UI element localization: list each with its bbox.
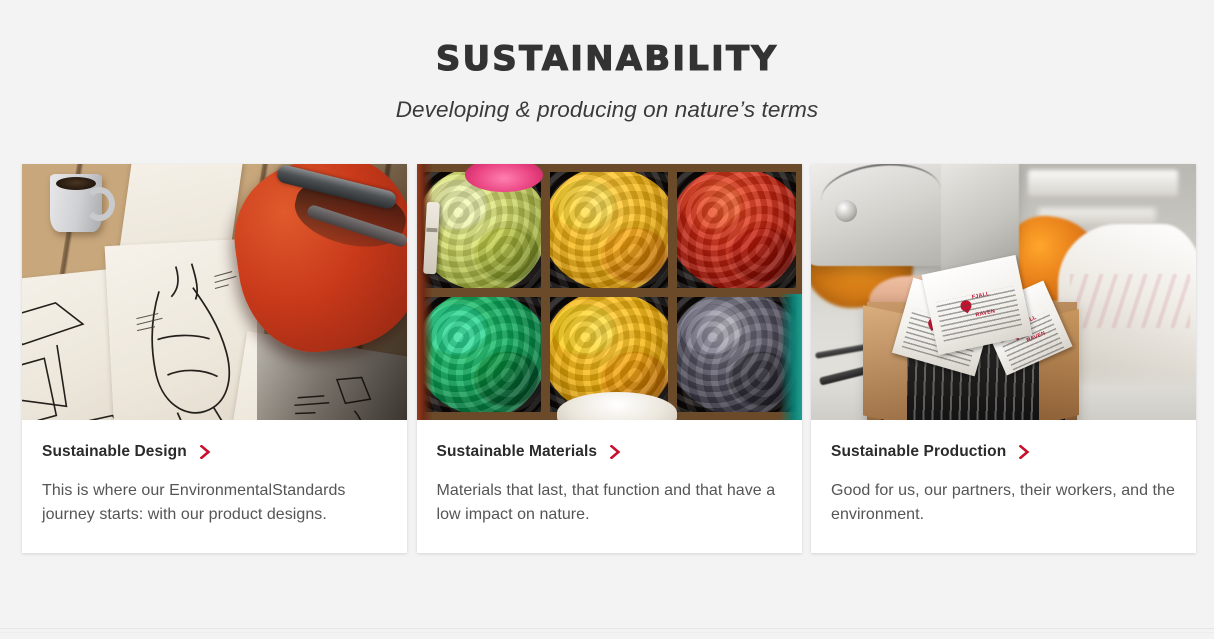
card-image-sustainable-production[interactable]: FJALL RAVEN FJALL RAVEN bbox=[811, 164, 1196, 420]
card-grid: Sustainable Design This is where our Env… bbox=[22, 164, 1196, 553]
cubby-cell bbox=[677, 297, 795, 413]
wool-texture bbox=[677, 172, 795, 288]
card-heading-label: Sustainable Design bbox=[42, 444, 187, 460]
page-divider bbox=[0, 628, 1214, 629]
coffee-liquid bbox=[56, 177, 96, 190]
card-heading[interactable]: Sustainable Materials bbox=[437, 444, 782, 460]
wooden-cubby-grid bbox=[417, 164, 802, 420]
wool-texture bbox=[423, 297, 541, 413]
fabric-stripes bbox=[1070, 274, 1190, 328]
card-sustainable-production[interactable]: FJALL RAVEN FJALL RAVEN bbox=[811, 164, 1196, 553]
wool-teal-edge bbox=[780, 294, 802, 420]
coffee-mug bbox=[50, 174, 102, 232]
card-heading-label: Sustainable Materials bbox=[437, 444, 598, 460]
card-body: Sustainable Production Good for us, our … bbox=[811, 420, 1196, 553]
chevron-right-glyph bbox=[1019, 445, 1030, 459]
card-description: This is where our EnvironmentalStandards… bbox=[42, 479, 387, 527]
cubby-cell bbox=[550, 172, 668, 288]
chevron-right-icon[interactable] bbox=[1019, 445, 1030, 459]
card-description: Materials that last, that function and t… bbox=[437, 479, 782, 527]
chevron-right-icon[interactable] bbox=[200, 445, 211, 459]
page-divider bbox=[0, 632, 1214, 633]
card-heading[interactable]: Sustainable Design bbox=[42, 444, 387, 460]
wool-texture bbox=[677, 297, 795, 413]
card-sustainable-materials[interactable]: Sustainable Materials Materials that las… bbox=[417, 164, 802, 553]
card-image-sustainable-materials[interactable] bbox=[417, 164, 802, 420]
chevron-right-icon[interactable] bbox=[610, 445, 621, 459]
card-heading-label: Sustainable Production bbox=[831, 444, 1006, 460]
wool-texture bbox=[550, 172, 668, 288]
page-title: SUSTAINABILITY bbox=[0, 42, 1214, 76]
card-body: Sustainable Design This is where our Env… bbox=[22, 420, 407, 553]
chevron-right-glyph bbox=[610, 445, 621, 459]
cubby-cell bbox=[423, 297, 541, 413]
card-heading[interactable]: Sustainable Production bbox=[831, 444, 1176, 460]
page-header: SUSTAINABILITY Developing & producing on… bbox=[0, 0, 1214, 122]
hang-tag-text-lines bbox=[936, 286, 1023, 342]
chevron-right-glyph bbox=[200, 445, 211, 459]
card-description: Good for us, our partners, their workers… bbox=[831, 479, 1176, 527]
card-sustainable-design[interactable]: Sustainable Design This is where our Env… bbox=[22, 164, 407, 553]
card-image-sustainable-design[interactable] bbox=[22, 164, 407, 420]
page-subtitle: Developing & producing on nature’s terms bbox=[0, 76, 1214, 122]
ceiling-light bbox=[1028, 170, 1178, 196]
card-body: Sustainable Materials Materials that las… bbox=[417, 420, 802, 553]
cubby-cell bbox=[677, 172, 795, 288]
